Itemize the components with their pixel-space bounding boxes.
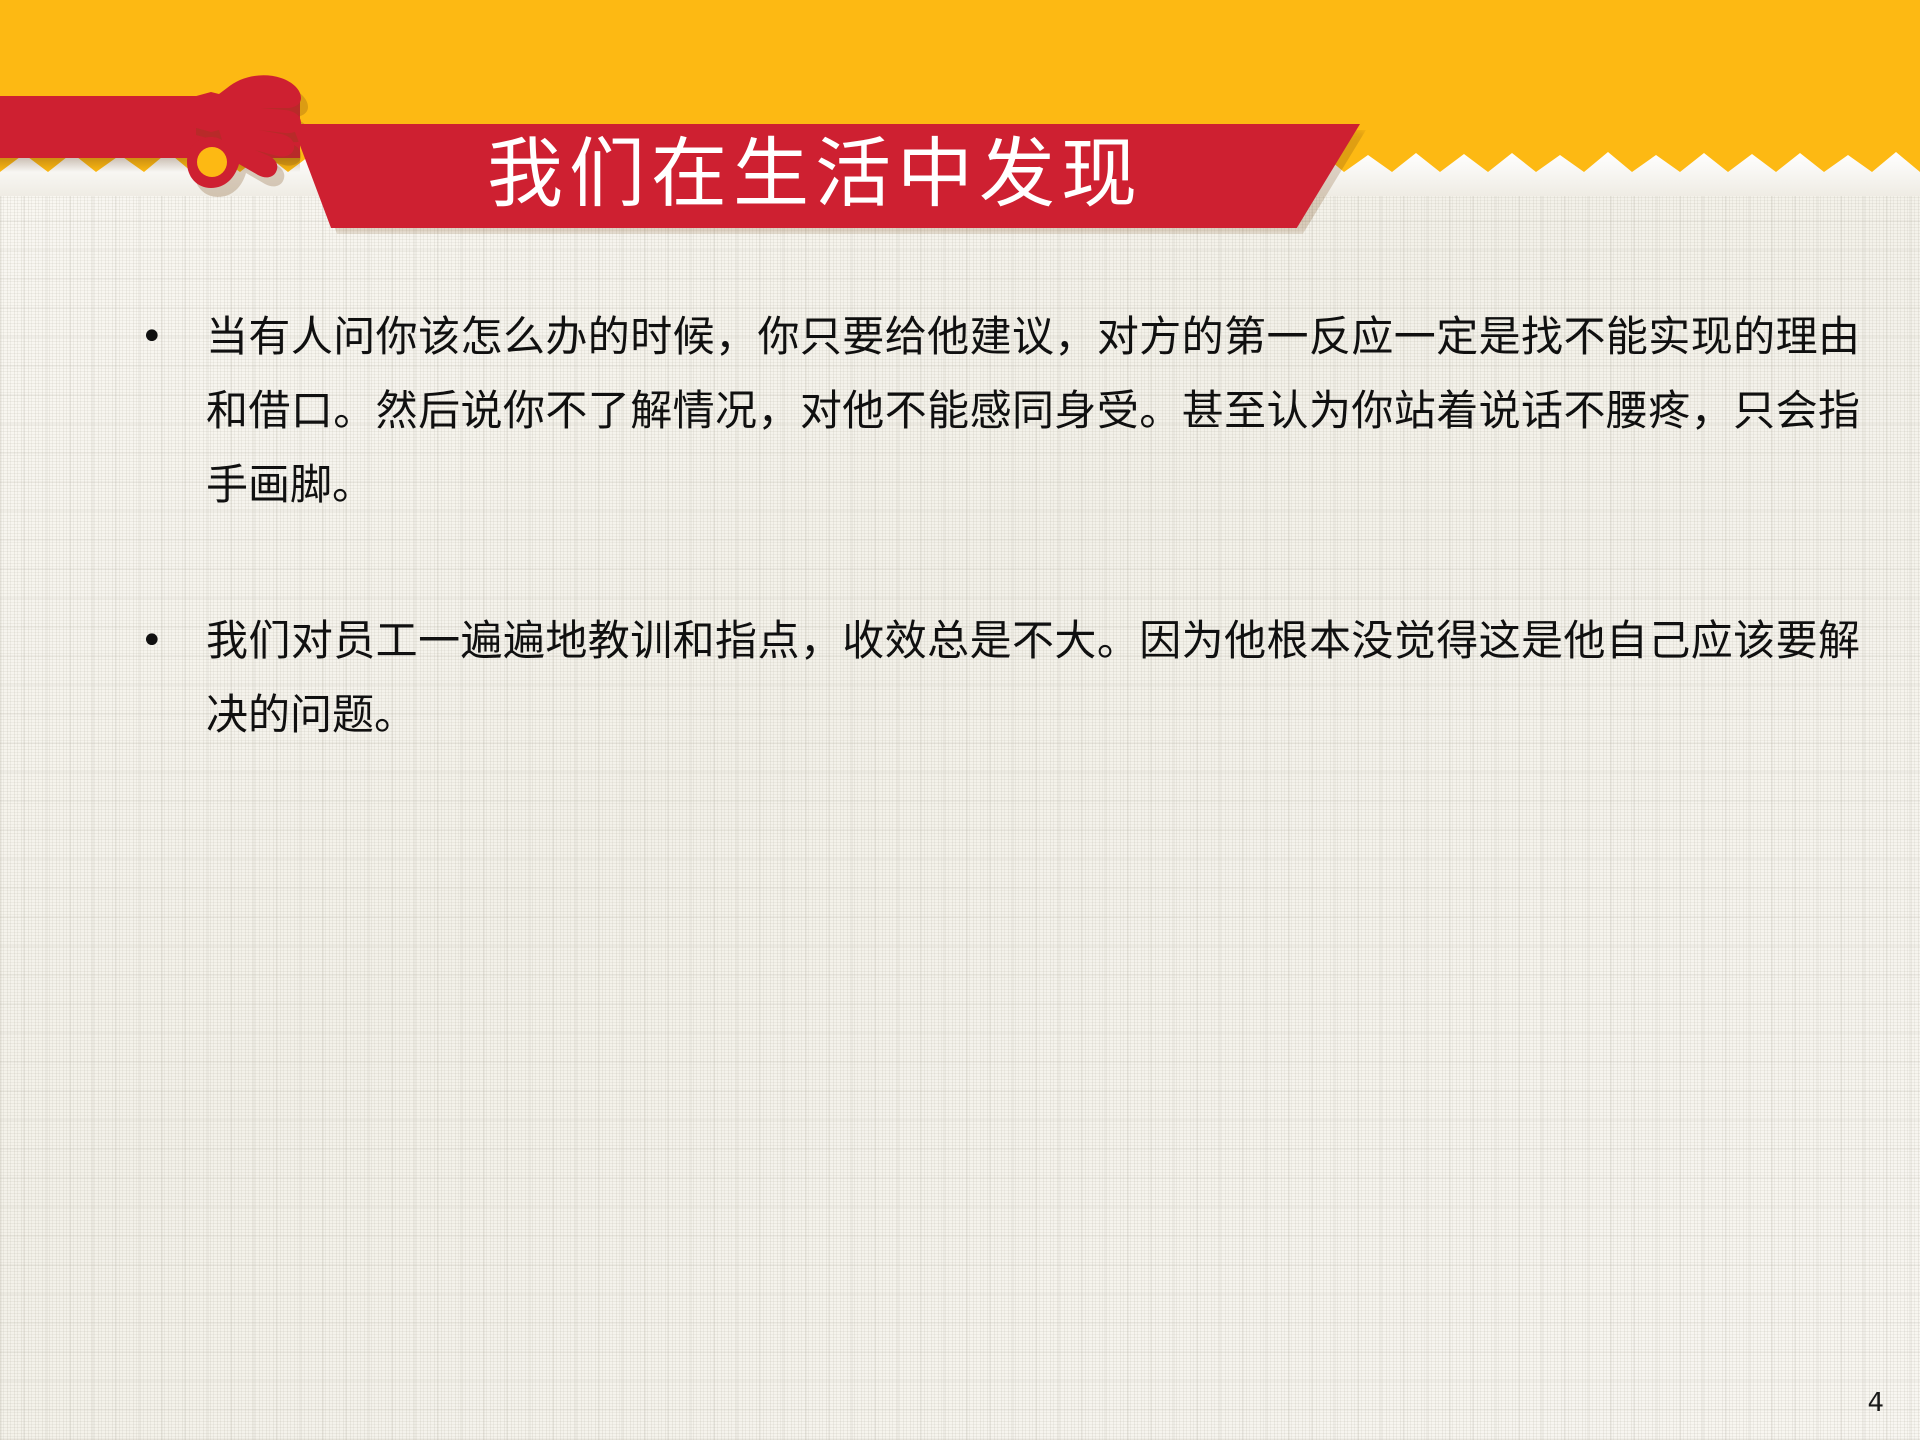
- bullet-paragraph: 当有人问你该怎么办的时候，你只要给他建议，对方的第一反应一定是找不能实现的理由和…: [206, 300, 1860, 522]
- title-banner: 我们在生活中发现: [270, 124, 1360, 228]
- bullet-marker: •: [140, 300, 206, 374]
- page-number: 4: [1867, 1390, 1884, 1416]
- page-title: 我们在生活中发现: [270, 124, 1360, 228]
- slide: 我们在生活中发现 • 当有人问你该怎么办的时候，你只要给他建议，对方的第一反应一…: [0, 0, 1920, 1440]
- bullet-marker: •: [140, 604, 206, 678]
- bullet-text: 我们对员工一遍遍地教训和指点，收效总是不大。因为他根本没觉得这是他自己应该要解决…: [206, 604, 1860, 752]
- bullet-text: 当有人问你该怎么办的时候，你只要给他建议，对方的第一反应一定是找不能实现的理由和…: [206, 300, 1860, 522]
- content-area: • 当有人问你该怎么办的时候，你只要给他建议，对方的第一反应一定是找不能实现的理…: [0, 300, 1920, 834]
- list-item: • 我们对员工一遍遍地教训和指点，收效总是不大。因为他根本没觉得这是他自己应该要…: [0, 604, 1920, 752]
- bullet-paragraph: 我们对员工一遍遍地教训和指点，收效总是不大。因为他根本没觉得这是他自己应该要解决…: [206, 604, 1860, 752]
- list-item: • 当有人问你该怎么办的时候，你只要给他建议，对方的第一反应一定是找不能实现的理…: [0, 300, 1920, 522]
